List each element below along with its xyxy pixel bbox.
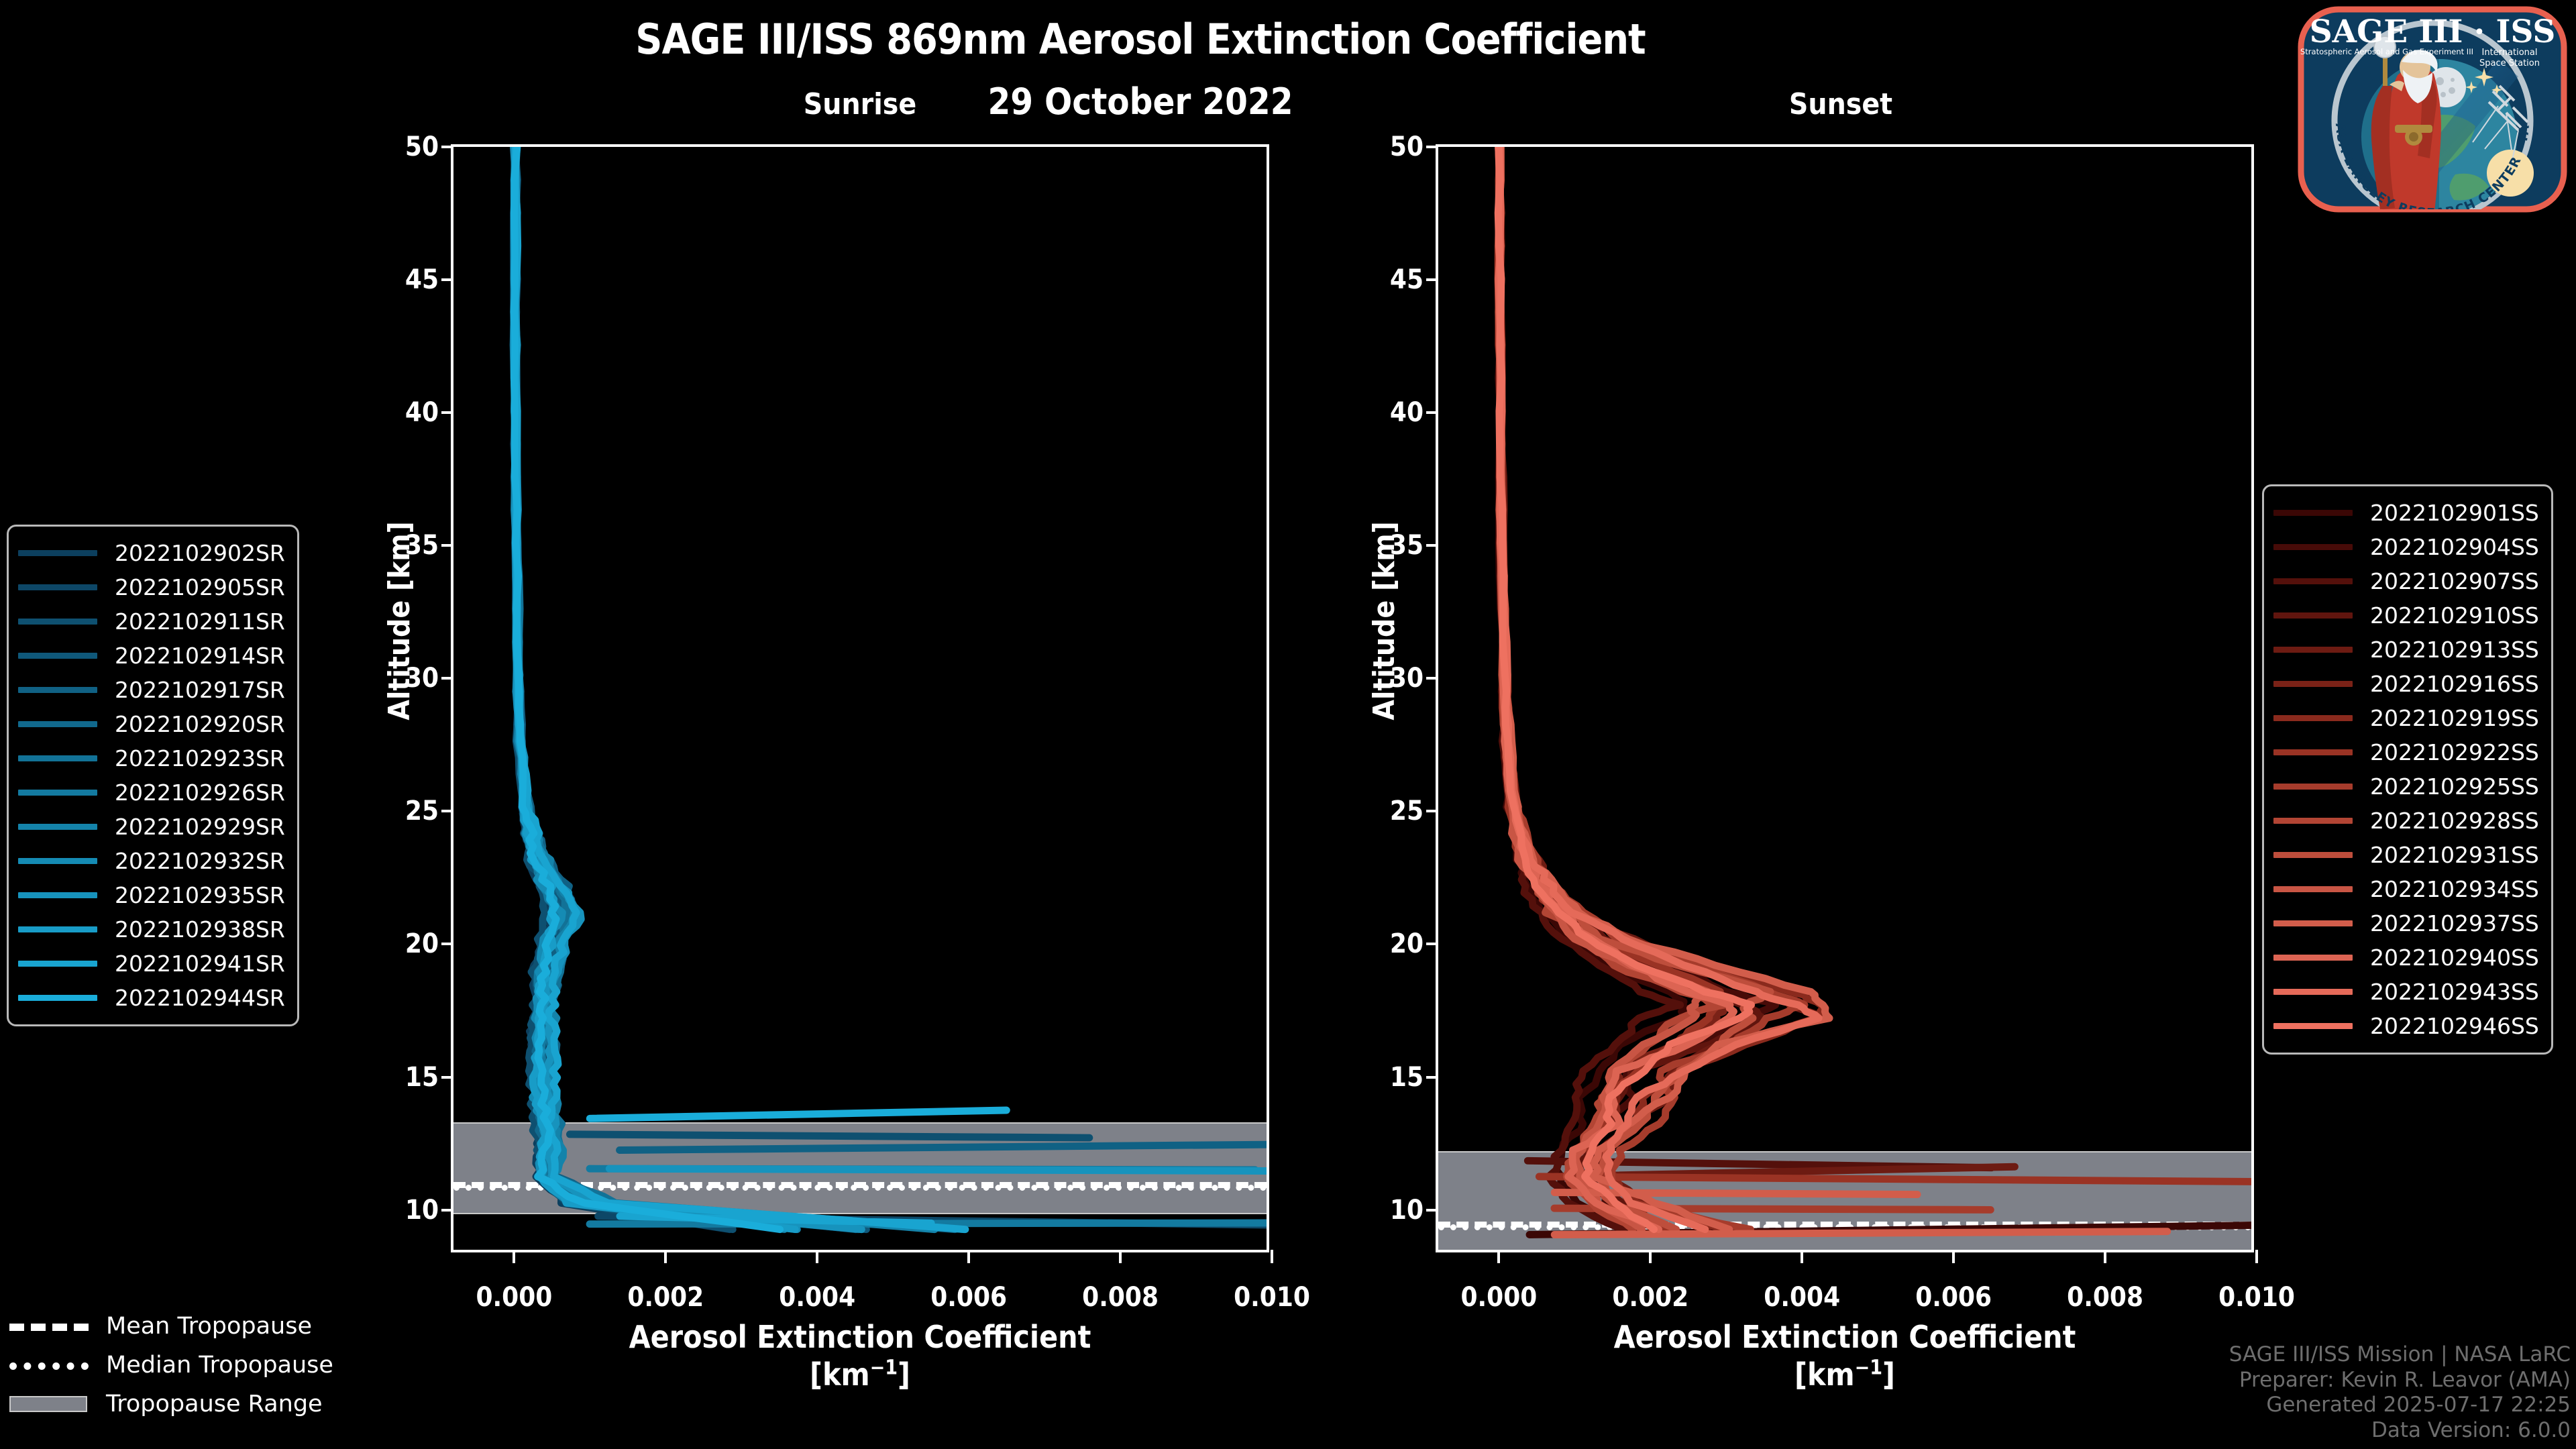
legend-label: 2022102940SS (2370, 945, 2539, 971)
legend-item-sunset-9[interactable]: 2022102928SS (2273, 804, 2539, 838)
x-axis-tick-mark (1271, 1250, 1273, 1263)
profile-line (514, 147, 1006, 1230)
y-axis-tick-mark (1426, 677, 1438, 680)
legend-item-sunset-15[interactable]: 2022102946SS (2273, 1009, 2539, 1043)
sunrise-x-axis-label: Aerosol Extinction Coefficient [km−1] (451, 1318, 1269, 1393)
legend-label: 2022102904SS (2370, 534, 2539, 560)
profile-line (514, 147, 867, 1230)
legend-label: 2022102902SR (115, 540, 285, 566)
legend-item-sunrise-2[interactable]: 2022102911SR (18, 604, 285, 639)
legend-item-sunrise-10[interactable]: 2022102935SR (18, 878, 285, 912)
legend-item-tropopause-range: Tropopause Range (9, 1385, 333, 1424)
legend-item-sunset-11[interactable]: 2022102934SS (2273, 872, 2539, 906)
y-axis-tick-label: 15 (1390, 1062, 1424, 1093)
legend-label: 2022102929SR (115, 814, 285, 840)
credit-data-version: Data Version: 6.0.0 (2229, 1418, 2571, 1444)
credit-mission: SAGE III/ISS Mission | NASA LaRC (2229, 1342, 2571, 1368)
profile-line (514, 147, 1267, 1230)
logo-subtitle-right-2: Space Station (2479, 58, 2540, 68)
legend-item-sunset-10[interactable]: 2022102931SS (2273, 838, 2539, 872)
legend-label: 2022102901SS (2370, 500, 2539, 526)
legend-label: 2022102917SR (115, 677, 285, 703)
y-axis-tick-mark (441, 1209, 453, 1212)
y-axis-tick-label: 25 (405, 796, 439, 826)
legend-item-sunrise-8[interactable]: 2022102929SR (18, 810, 285, 844)
line-swatch-icon (18, 721, 97, 727)
line-swatch-icon (18, 653, 97, 659)
legend-item-sunrise-5[interactable]: 2022102920SR (18, 707, 285, 741)
legend-label: 2022102943SS (2370, 979, 2539, 1005)
legend-label: 2022102944SR (115, 985, 285, 1011)
sunset-x-axis-unit: [km−1] (1436, 1356, 2254, 1393)
y-axis-tick-mark (441, 1076, 453, 1079)
x-axis-tick-label: 0.002 (627, 1282, 704, 1313)
credit-generated: Generated 2025-07-17 22:25 (2229, 1393, 2571, 1418)
y-axis-tick-mark (1426, 146, 1438, 148)
legend-item-sunset-5[interactable]: 2022102916SS (2273, 667, 2539, 701)
y-axis-tick-label: 20 (1390, 928, 1424, 959)
line-swatch-icon (18, 824, 97, 830)
line-swatch-icon (18, 790, 97, 796)
sunrise-x-axis-label-text: Aerosol Extinction Coefficient (629, 1319, 1091, 1355)
line-swatch-icon (2273, 715, 2353, 721)
legend-item-sunrise-12[interactable]: 2022102941SR (18, 947, 285, 981)
sunrise-panel-title: Sunrise (726, 87, 994, 121)
x-axis-tick-label: 0.010 (2218, 1282, 2295, 1313)
line-swatch-icon (2273, 578, 2353, 584)
legend-item-sunrise-0[interactable]: 2022102902SR (18, 536, 285, 570)
legend-label: 2022102919SS (2370, 705, 2539, 731)
sunrise-plot-area (453, 147, 1267, 1250)
line-swatch-icon (2273, 784, 2353, 790)
line-swatch-icon (18, 961, 97, 967)
legend-item-sunset-8[interactable]: 2022102925SS (2273, 769, 2539, 804)
x-axis-tick-mark (2104, 1250, 2106, 1263)
profile-line (514, 147, 934, 1230)
legend-label-mean-tropopause: Mean Tropopause (106, 1313, 312, 1340)
tropopause-legend: Mean Tropopause Median Tropopause Tropop… (9, 1307, 333, 1424)
line-swatch-icon (2273, 1023, 2353, 1029)
y-axis-tick-mark (441, 278, 453, 281)
line-swatch-icon (2273, 989, 2353, 995)
x-axis-tick-mark (1952, 1250, 1955, 1263)
credits-block: SAGE III/ISS Mission | NASA LaRC Prepare… (2229, 1342, 2571, 1444)
x-axis-tick-label: 0.004 (779, 1282, 855, 1313)
y-axis-tick-mark (1426, 278, 1438, 281)
line-swatch-icon (2273, 818, 2353, 824)
line-swatch-icon (18, 687, 97, 693)
legend-label: 2022102937SS (2370, 910, 2539, 936)
y-axis-tick-mark (1426, 1209, 1438, 1212)
sunset-panel-title: Sunset (1707, 87, 1975, 121)
legend-item-sunset-0[interactable]: 2022102901SS (2273, 496, 2539, 530)
x-axis-tick-label: 0.000 (476, 1282, 552, 1313)
line-swatch-icon (18, 755, 97, 761)
x-axis-tick-mark (1119, 1250, 1122, 1263)
x-axis-tick-mark (1497, 1250, 1500, 1263)
y-axis-tick-label: 45 (1390, 264, 1424, 295)
sunset-x-axis-label: Aerosol Extinction Coefficient [km−1] (1436, 1318, 2254, 1393)
legend-label: 2022102916SS (2370, 671, 2539, 697)
legend-item-sunset-2[interactable]: 2022102907SS (2273, 564, 2539, 598)
legend-label: 2022102946SS (2370, 1013, 2539, 1039)
y-axis-tick-label: 50 (405, 131, 439, 162)
profile-line (515, 147, 1267, 1230)
x-axis-tick-label: 0.006 (930, 1282, 1007, 1313)
y-axis-tick-label: 10 (1390, 1195, 1424, 1226)
legend-item-mean-tropopause: Mean Tropopause (9, 1307, 333, 1346)
legend-label: 2022102934SS (2370, 876, 2539, 902)
profile-line (1499, 147, 1819, 1230)
legend-label: 2022102913SS (2370, 637, 2539, 663)
profile-line (1499, 147, 2015, 1230)
sunset-plot-area (1438, 147, 2251, 1250)
x-axis-tick-label: 0.006 (1915, 1282, 1992, 1313)
y-axis-tick-label: 15 (405, 1062, 439, 1093)
x-axis-tick-label: 0.004 (1764, 1282, 1840, 1313)
line-swatch-icon (18, 550, 97, 556)
legend-label: 2022102926SR (115, 780, 285, 806)
logo-subtitle-right-1: International (2482, 48, 2538, 58)
legend-label: 2022102905SR (115, 574, 285, 600)
sage3-iss-mission-patch-logo: BALL · NASA LANGLEY RESEARCH CENTER · TA… (2297, 5, 2568, 213)
y-axis-tick-label: 40 (1390, 397, 1424, 428)
legend-label: 2022102938SR (115, 916, 285, 943)
legend-item-sunrise-1[interactable]: 2022102905SR (18, 570, 285, 604)
line-swatch-icon (18, 584, 97, 590)
y-axis-tick-label: 45 (405, 264, 439, 295)
line-swatch-icon (18, 926, 97, 932)
legend-item-sunset-6[interactable]: 2022102919SS (2273, 701, 2539, 735)
profile-line (513, 147, 1089, 1230)
x-axis-tick-label: 0.000 (1460, 1282, 1537, 1313)
legend-label: 2022102928SS (2370, 808, 2539, 834)
legend-item-sunrise-13[interactable]: 2022102944SR (18, 981, 285, 1015)
line-swatch-icon (18, 619, 97, 625)
sunset-y-axis-label: Altitude [km] (1367, 521, 1401, 720)
profile-line (1499, 147, 1990, 1230)
x-axis-tick-label: 0.008 (1082, 1282, 1159, 1313)
profile-line (515, 147, 965, 1230)
y-axis-tick-mark (1426, 943, 1438, 945)
legend-label: 2022102910SS (2370, 602, 2539, 629)
legend-item-sunset-1[interactable]: 2022102904SS (2273, 530, 2539, 564)
sunset-profile-curves (1438, 147, 2251, 1248)
x-axis-tick-label: 0.008 (2067, 1282, 2143, 1313)
y-axis-tick-mark (441, 544, 453, 547)
legend-item-sunset-14[interactable]: 2022102943SS (2273, 975, 2539, 1009)
legend-label: 2022102907SS (2370, 568, 2539, 594)
legend-item-sunrise-4[interactable]: 2022102917SR (18, 673, 285, 707)
y-axis-tick-mark (441, 146, 453, 148)
y-axis-tick-mark (441, 943, 453, 945)
sunrise-plot: 101520253035404550 0.0000.0020.0040.0060… (451, 144, 1269, 1252)
line-swatch-icon (2273, 612, 2353, 619)
legend-label: 2022102925SS (2370, 773, 2539, 800)
credit-preparer: Preparer: Kevin R. Leavor (AMA) (2229, 1368, 2571, 1393)
y-axis-tick-mark (1426, 1076, 1438, 1079)
profile-line (515, 147, 965, 1230)
line-swatch-icon (2273, 544, 2353, 550)
legend-label: 2022102911SR (115, 608, 285, 635)
sunset-plot: 101520253035404550 0.0000.0020.0040.0060… (1436, 144, 2254, 1252)
y-axis-tick-mark (441, 411, 453, 414)
line-swatch-icon (2273, 955, 2353, 961)
dotted-line-icon (9, 1356, 89, 1374)
sunrise-y-axis-label: Altitude [km] (382, 521, 417, 720)
line-swatch-icon (2273, 886, 2353, 892)
legend-item-sunset-4[interactable]: 2022102913SS (2273, 633, 2539, 667)
legend-item-sunset-13[interactable]: 2022102940SS (2273, 941, 2539, 975)
filled-rectangle-icon (9, 1395, 89, 1413)
legend-label: 2022102914SR (115, 643, 285, 669)
sunset-x-axis-label-text: Aerosol Extinction Coefficient (1614, 1319, 2076, 1355)
legend-item-sunset-3[interactable]: 2022102910SS (2273, 598, 2539, 633)
legend-label: 2022102935SR (115, 882, 285, 908)
dashed-line-icon (9, 1318, 89, 1335)
y-axis-tick-mark (441, 810, 453, 812)
y-axis-tick-label: 20 (405, 928, 439, 959)
y-axis-tick-label: 50 (1390, 131, 1424, 162)
legend-label: 2022102941SR (115, 951, 285, 977)
profile-line (515, 147, 1267, 1230)
line-swatch-icon (2273, 510, 2353, 516)
legend-item-sunrise-7[interactable]: 2022102926SR (18, 775, 285, 810)
y-axis-tick-mark (1426, 810, 1438, 812)
legend-item-sunset-12[interactable]: 2022102937SS (2273, 906, 2539, 941)
y-axis-tick-label: 25 (1390, 796, 1424, 826)
legend-label: 2022102920SR (115, 711, 285, 737)
legend-label-tropopause-range: Tropopause Range (106, 1391, 323, 1417)
x-axis-tick-mark (2255, 1250, 2258, 1263)
sunset-series-legend[interactable]: 2022102901SS2022102904SS2022102907SS2022… (2262, 484, 2553, 1055)
y-axis-tick-label: 10 (405, 1195, 439, 1226)
x-axis-tick-mark (967, 1250, 970, 1263)
page-title: SAGE III/ISS 869nm Aerosol Extinction Co… (0, 15, 2281, 64)
profile-line (515, 147, 856, 1230)
legend-label: 2022102922SS (2370, 739, 2539, 765)
sunrise-profile-curves (453, 147, 1267, 1248)
legend-label: 2022102931SS (2370, 842, 2539, 868)
line-swatch-icon (18, 858, 97, 864)
sunrise-x-axis-unit: [km−1] (451, 1356, 1269, 1393)
legend-item-sunrise-9[interactable]: 2022102932SR (18, 844, 285, 878)
y-axis-tick-mark (441, 677, 453, 680)
y-axis-tick-label: 40 (405, 397, 439, 428)
legend-item-median-tropopause: Median Tropopause (9, 1346, 333, 1385)
legend-label: 2022102932SR (115, 848, 285, 874)
line-swatch-icon (2273, 681, 2353, 687)
line-swatch-icon (2273, 749, 2353, 755)
profile-line (1499, 147, 1992, 1230)
x-axis-tick-label: 0.010 (1234, 1282, 1310, 1313)
line-swatch-icon (18, 892, 97, 898)
legend-label-median-tropopause: Median Tropopause (106, 1352, 333, 1379)
legend-item-sunrise-3[interactable]: 2022102914SR (18, 639, 285, 673)
legend-item-sunrise-11[interactable]: 2022102938SR (18, 912, 285, 947)
legend-item-sunset-7[interactable]: 2022102922SS (2273, 735, 2539, 769)
legend-item-sunrise-6[interactable]: 2022102923SR (18, 741, 285, 775)
y-axis-tick-mark (1426, 411, 1438, 414)
x-axis-tick-mark (664, 1250, 667, 1263)
legend-label: 2022102923SR (115, 745, 285, 771)
x-axis-tick-label: 0.002 (1612, 1282, 1688, 1313)
profile-line (514, 147, 1267, 1230)
sunrise-series-legend[interactable]: 2022102902SR2022102905SR2022102911SR2022… (7, 525, 299, 1026)
line-swatch-icon (2273, 852, 2353, 858)
logo-subtitle-left: Stratospheric Aerosol and Gas Experiment… (2300, 47, 2473, 56)
logo-title: SAGE III · ISS (2310, 13, 2556, 50)
x-axis-tick-mark (1801, 1250, 1803, 1263)
x-axis-tick-mark (513, 1250, 515, 1263)
line-swatch-icon (2273, 647, 2353, 653)
x-axis-tick-mark (1649, 1250, 1652, 1263)
y-axis-tick-mark (1426, 544, 1438, 547)
line-swatch-icon (18, 995, 97, 1001)
line-swatch-icon (2273, 920, 2353, 926)
x-axis-tick-mark (816, 1250, 818, 1263)
